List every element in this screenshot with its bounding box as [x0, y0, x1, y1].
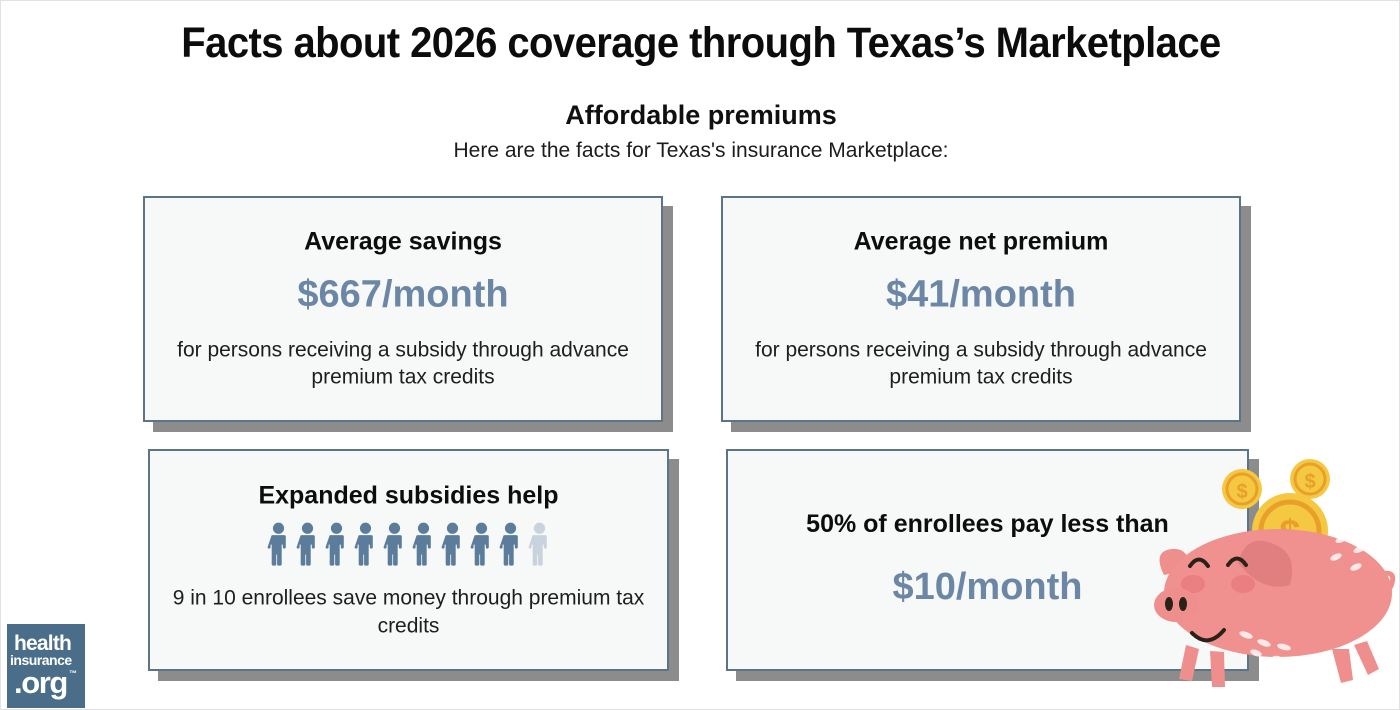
person-icon: [469, 522, 494, 566]
person-icon: [295, 522, 320, 566]
card-content: Expanded subsidies help 9 in 10 enrollee…: [150, 480, 667, 639]
card-heading: 50% of enrollees pay less than: [742, 509, 1233, 539]
coin-icon-small-right: $: [1290, 459, 1330, 499]
pig-hind-leg: [1332, 649, 1353, 683]
infographic-canvas: Facts about 2026 coverage through Texas’…: [0, 0, 1400, 710]
person-icon: [411, 522, 436, 566]
pig-hind-leg-2: [1354, 641, 1379, 675]
section-subheading: Here are the facts for Texas's insurance…: [1, 139, 1400, 163]
person-icon: [382, 522, 407, 566]
card-content: Average net premium $41/month for person…: [723, 226, 1239, 391]
pig-speckles: [1238, 533, 1367, 663]
person-icon: [440, 522, 465, 566]
person-icon: [498, 522, 523, 566]
svg-text:$: $: [1279, 513, 1300, 555]
card-content: Average savings $667/month for persons r…: [145, 226, 661, 391]
svg-text:$: $: [1304, 471, 1315, 493]
person-icon: [266, 522, 291, 566]
logo-line-health: health: [14, 633, 71, 654]
card-note: for persons receiving a subsidy through …: [159, 336, 647, 391]
card-content: 50% of enrollees pay less than $10/month: [728, 509, 1247, 611]
card-note: for persons receiving a subsidy through …: [737, 336, 1225, 391]
person-icon: [324, 522, 349, 566]
logo-line-org: .org: [14, 667, 67, 698]
coin-icon-large: $: [1252, 493, 1328, 569]
card-heading: Average savings: [159, 226, 647, 256]
trademark-icon: ™: [69, 670, 77, 678]
pictograph-people: [164, 522, 653, 566]
page-title: Facts about 2026 coverage through Texas’…: [50, 19, 1352, 68]
card-heading: Average net premium: [737, 226, 1225, 256]
card-heading: Expanded subsidies help: [164, 480, 653, 510]
card-median-premium: 50% of enrollees pay less than $10/month: [726, 449, 1249, 671]
card-expanded-subsidies: Expanded subsidies help 9 in 10 enrollee…: [148, 449, 669, 671]
healthinsurance-org-logo[interactable]: health insurance .org ™: [7, 624, 85, 708]
card-value: $41/month: [737, 272, 1225, 318]
section-heading: Affordable premiums: [1, 100, 1400, 131]
person-icon: [353, 522, 378, 566]
pig-tail: [1373, 573, 1393, 591]
coin-slot: [1261, 546, 1319, 574]
card-value: $10/month: [742, 565, 1233, 611]
card-average-savings: Average savings $667/month for persons r…: [143, 196, 663, 422]
card-value: $667/month: [159, 272, 647, 318]
person-icon: [527, 522, 552, 566]
card-average-net-premium: Average net premium $41/month for person…: [721, 196, 1241, 422]
card-note: 9 in 10 enrollees save money through pre…: [164, 584, 653, 639]
